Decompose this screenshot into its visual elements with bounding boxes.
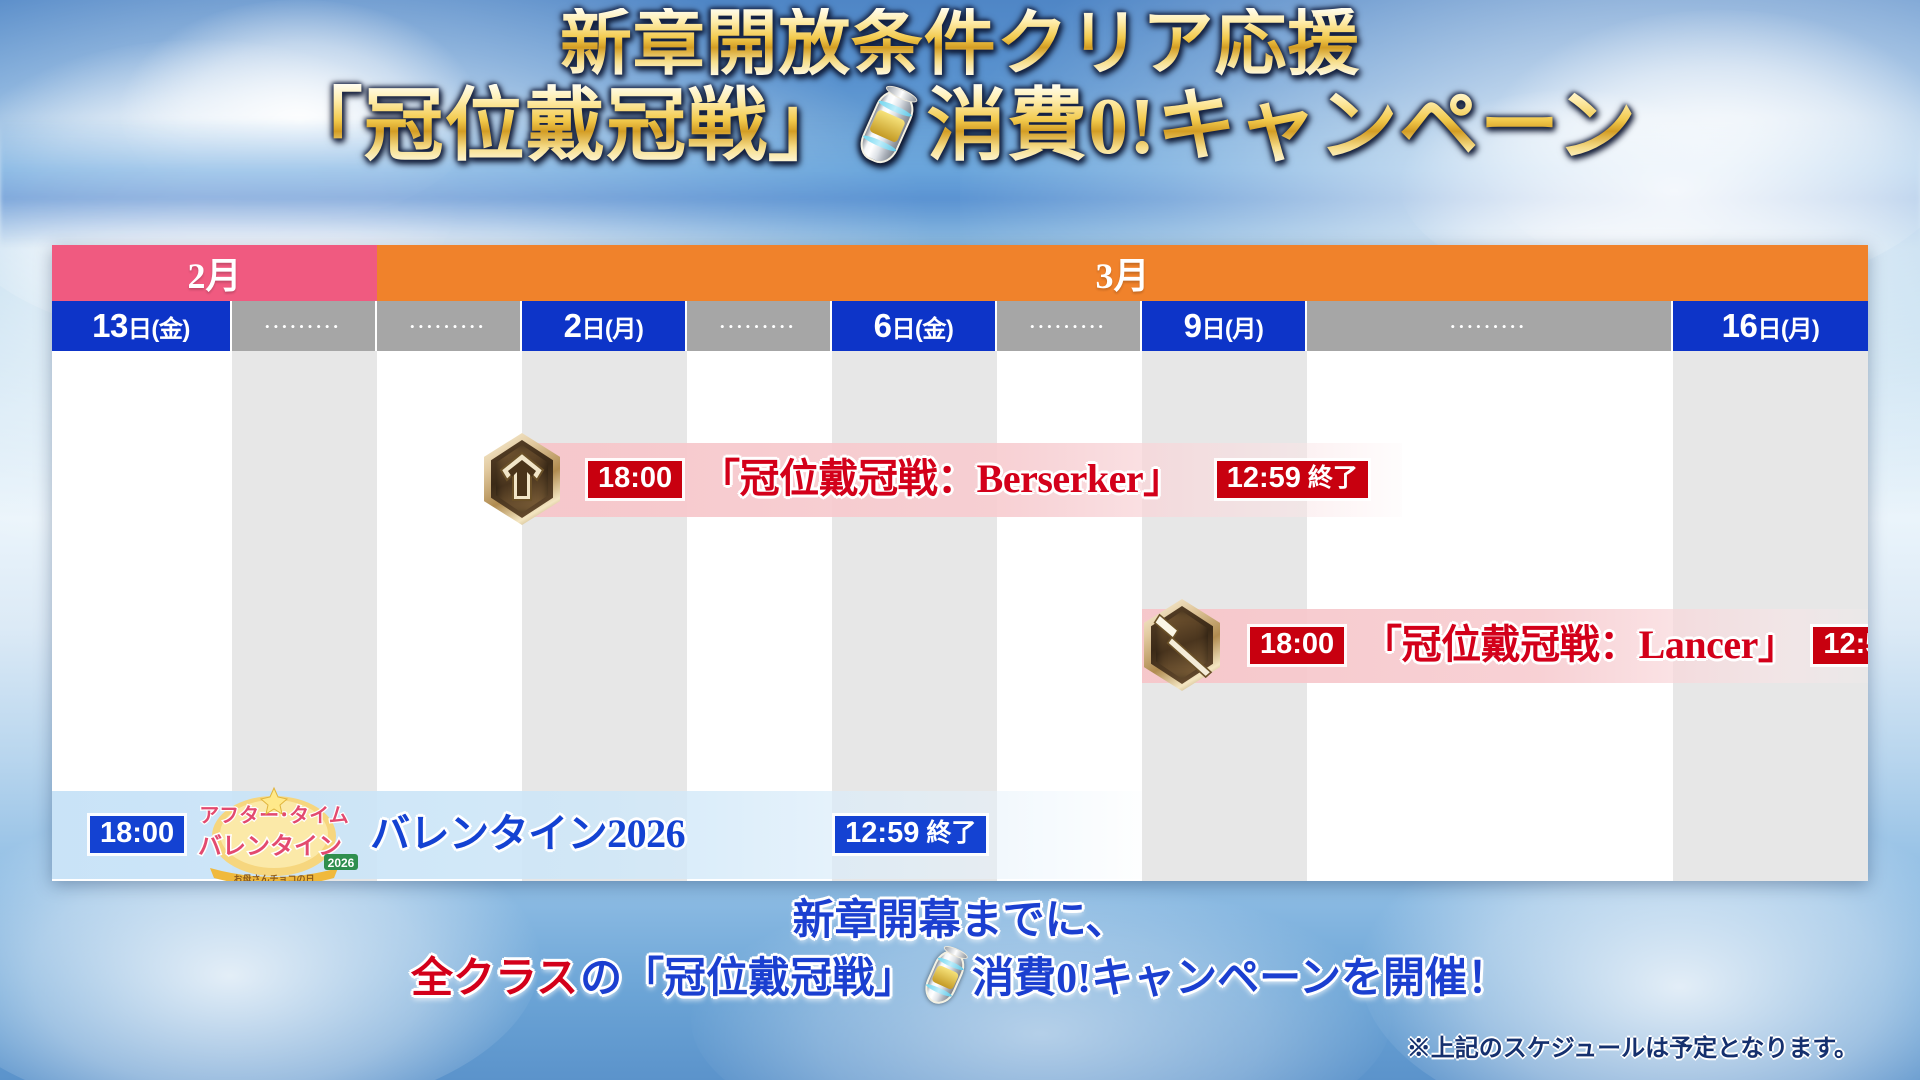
berserker-end-badge: 12:59 終了 <box>1217 461 1368 498</box>
date-cell-mar-16[interactable]: 16日(月) <box>1673 301 1868 351</box>
lancer-end-time: 12:59 <box>1823 630 1868 659</box>
title-line-2: 「冠位戴冠戦」 消費0!キャンペーン <box>0 84 1920 170</box>
berserker-end-time: 12:59 <box>1227 464 1301 493</box>
date-cell-feb-13[interactable]: 13日(金) <box>52 301 232 351</box>
svg-text:2026: 2026 <box>328 856 355 870</box>
lancer-end-badge: 12:59 終了 <box>1813 627 1868 664</box>
berserker-class-card-icon <box>484 433 560 525</box>
date-label: 9日(月) <box>1184 307 1264 345</box>
ap-drink-can-icon-footer <box>912 939 978 1015</box>
valentine-end-label: 終了 <box>926 821 976 846</box>
valentine-event-title: バレンタイン2026 <box>370 814 685 854</box>
valentine-end-badge: 12:59 終了 <box>835 816 986 853</box>
calendar-body: 18:00 「冠位戴冠戦：Berserker」 12:59 終了 18:00 「… <box>52 351 1868 881</box>
date-cell-mar-6[interactable]: 6日(金) <box>832 301 997 351</box>
lancer-spear-glyph <box>1142 602 1222 689</box>
date-label: 2日(月) <box>564 307 644 345</box>
svg-text:バレンタイン: バレンタイン <box>198 833 342 860</box>
valentine-2026-logo-icon: アフター･タイム バレンタイン 2026 お母さんチョコの日 <box>184 782 364 881</box>
footer-message: 新章開幕までに、 全クラス の「冠位戴冠戦」 消費0!キャンペーンを開催！ <box>0 896 1920 1011</box>
date-cell-gap-4: ••••••••• <box>997 301 1142 351</box>
month-label: 2月 <box>187 247 241 299</box>
month-header-march: 3月 <box>377 245 1868 301</box>
month-header-row: 2月 3月 <box>52 245 1868 301</box>
berserker-end-label: 終了 <box>1308 466 1358 491</box>
lancer-class-card-icon <box>1144 599 1220 691</box>
lancer-event-row[interactable]: 18:00 「冠位戴冠戦：Lancer」 12:59 終了 <box>1144 595 1868 695</box>
berserker-axe-glyph <box>491 450 553 508</box>
footer-line-1: 新章開幕までに、 <box>0 896 1920 947</box>
month-label: 3月 <box>1095 247 1149 299</box>
title-line-2-post: 消費0!キャンペーン <box>926 87 1637 167</box>
date-cell-mar-2[interactable]: 2日(月) <box>522 301 687 351</box>
lancer-event-title: 「冠位戴冠戦：Lancer」 <box>1362 625 1797 665</box>
month-header-february: 2月 <box>52 245 377 301</box>
campaign-title: 新章開放条件クリア応援 「冠位戴冠戦」 消費0!キャンペーン <box>0 8 1920 170</box>
title-line-1: 新章開放条件クリア応援 <box>0 8 1920 80</box>
footer-line-2: 全クラス の「冠位戴冠戦」 消費0!キャンペーンを開催！ <box>0 947 1920 1011</box>
title-line-2-pre: 「冠位戴冠戦」 <box>283 87 849 167</box>
berserker-start-badge: 18:00 <box>588 461 682 498</box>
date-dots: ••••••••• <box>410 320 487 333</box>
svg-text:お母さんチョコの日: お母さんチョコの日 <box>234 874 315 881</box>
date-dots: ••••••••• <box>720 320 797 333</box>
ap-drink-can-icon <box>844 76 932 178</box>
footer-highlight: 全クラス <box>411 954 578 1005</box>
date-cell-gap-5: ••••••••• <box>1307 301 1673 351</box>
berserker-event-row[interactable]: 18:00 「冠位戴冠戦：Berserker」 12:59 終了 <box>484 429 1368 529</box>
valentine-start-badge: 18:00 <box>90 816 184 853</box>
date-cell-gap-3: ••••••••• <box>687 301 832 351</box>
date-dots: ••••••••• <box>265 320 342 333</box>
date-dots: ••••••••• <box>1030 320 1107 333</box>
date-label: 13日(金) <box>92 307 190 345</box>
date-header-row: 13日(金) ••••••••• ••••••••• 2日(月) •••••••… <box>52 301 1868 351</box>
footer-line-2-mid: の「冠位戴冠戦」 <box>580 954 916 1005</box>
berserker-event-title: 「冠位戴冠戦：Berserker」 <box>700 459 1183 499</box>
date-dots: ••••••••• <box>1451 320 1528 333</box>
footer-line-2-end: 消費0!キャンペーンを開催！ <box>972 954 1509 1005</box>
date-label: 16日(月) <box>1722 307 1820 345</box>
valentine-end-time: 12:59 <box>845 819 919 848</box>
schedule-calendar: 2月 3月 13日(金) ••••••••• ••••••••• 2日(月) •… <box>52 245 1868 881</box>
date-label: 6日(金) <box>874 307 954 345</box>
lancer-start-badge: 18:00 <box>1250 627 1344 664</box>
date-cell-mar-9[interactable]: 9日(月) <box>1142 301 1307 351</box>
date-cell-gap-1: ••••••••• <box>232 301 377 351</box>
schedule-disclaimer-note: ※上記のスケジュールは予定となります。 <box>1407 1028 1858 1063</box>
valentine-event-row[interactable]: 18:00 アフター･タイム バレンタイン 2026 お母さんチョコの日 <box>90 779 986 881</box>
date-cell-gap-2: ••••••••• <box>377 301 522 351</box>
